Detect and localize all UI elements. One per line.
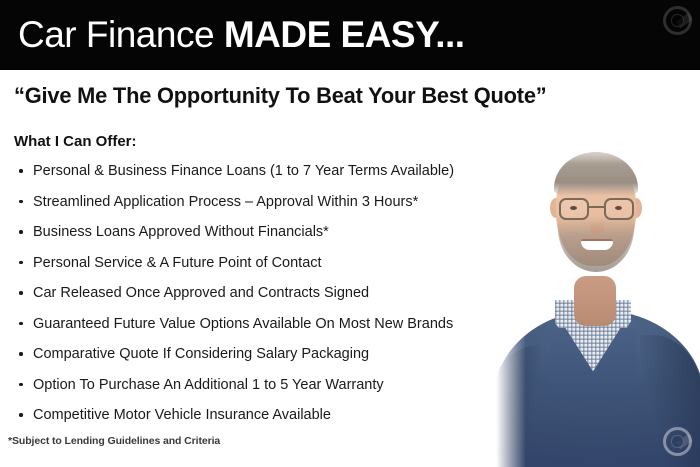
- page-title-light: Car Finance: [18, 14, 224, 55]
- bullet-dot-icon: [19, 383, 23, 387]
- list-item: Option To Purchase An Additional 1 to 5 …: [18, 374, 518, 405]
- list-item-label: Comparative Quote If Considering Salary …: [33, 346, 369, 362]
- portrait-glasses-left-lens: [559, 198, 589, 220]
- portrait-smile: [581, 239, 613, 250]
- bullet-dot-icon: [19, 413, 23, 417]
- page-title: Car Finance MADE EASY...: [18, 13, 465, 57]
- offer-bullet-list: Personal & Business Finance Loans (1 to …: [18, 160, 518, 435]
- list-item-label: Streamlined Application Process – Approv…: [33, 194, 418, 210]
- list-item-label: Competitive Motor Vehicle Insurance Avai…: [33, 407, 331, 423]
- page-title-bold: MADE EASY...: [224, 14, 465, 55]
- list-item-label: Option To Purchase An Additional 1 to 5 …: [33, 377, 384, 393]
- car-finance-poster: Car Finance MADE EASY... “Give Me The Op…: [0, 0, 700, 467]
- consultant-portrait-photo: [480, 140, 700, 467]
- bullet-dot-icon: [19, 322, 23, 326]
- portrait-top-fade: [480, 140, 700, 164]
- watermark-notch: [675, 13, 691, 27]
- list-item: Competitive Motor Vehicle Insurance Avai…: [18, 404, 518, 435]
- list-item-label: Personal & Business Finance Loans (1 to …: [33, 163, 454, 179]
- bullet-dot-icon: [19, 230, 23, 234]
- list-item: Guaranteed Future Value Options Availabl…: [18, 313, 518, 344]
- list-item-label: Car Released Once Approved and Contracts…: [33, 285, 369, 301]
- headline-quote: “Give Me The Opportunity To Beat Your Be…: [14, 83, 670, 109]
- list-item: Streamlined Application Process – Approv…: [18, 191, 518, 222]
- bullet-dot-icon: [19, 352, 23, 356]
- portrait-neck: [574, 276, 616, 326]
- list-item: Personal & Business Finance Loans (1 to …: [18, 160, 518, 191]
- watermark-ring-inner: [671, 14, 683, 26]
- offer-heading: What I Can Offer:: [14, 133, 137, 150]
- bullet-dot-icon: [19, 200, 23, 204]
- circular-watermark-icon: [663, 6, 692, 35]
- list-item-label: Business Loans Approved Without Financia…: [33, 224, 329, 240]
- header-bar: Car Finance MADE EASY...: [0, 0, 700, 70]
- portrait-nose: [590, 220, 604, 234]
- list-item-label: Guaranteed Future Value Options Availabl…: [33, 316, 453, 332]
- bullet-dot-icon: [19, 291, 23, 295]
- portrait-glasses-bridge: [589, 206, 604, 208]
- list-item: Comparative Quote If Considering Salary …: [18, 343, 518, 374]
- watermark-ring-outer: [663, 6, 692, 35]
- list-item-label: Personal Service & A Future Point of Con…: [33, 255, 322, 271]
- list-item: Car Released Once Approved and Contracts…: [18, 282, 518, 313]
- footnote-disclaimer: *Subject to Lending Guidelines and Crite…: [8, 435, 220, 447]
- bullet-dot-icon: [19, 261, 23, 265]
- list-item: Business Loans Approved Without Financia…: [18, 221, 518, 252]
- portrait-left-fade: [480, 140, 526, 467]
- portrait-glasses-right-lens: [604, 198, 634, 220]
- bullet-dot-icon: [19, 169, 23, 173]
- list-item: Personal Service & A Future Point of Con…: [18, 252, 518, 283]
